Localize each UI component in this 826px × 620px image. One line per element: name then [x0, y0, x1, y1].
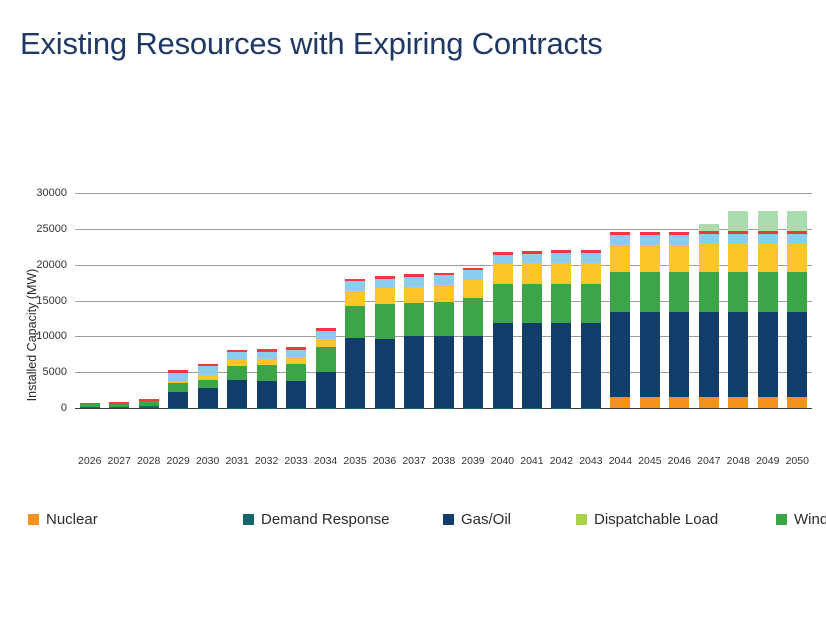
- stacked-bar[interactable]: [227, 350, 247, 408]
- bar-segment-solar[interactable]: [699, 244, 719, 272]
- bar-segment-wind[interactable]: [669, 272, 689, 312]
- bar-segment-gas-oil[interactable]: [404, 336, 424, 408]
- stacked-bar-chart: Installed Capacity (MW) 0500010000150002…: [0, 150, 826, 450]
- stacked-bar[interactable]: [581, 250, 601, 408]
- bar-column[interactable]: [399, 193, 428, 408]
- bar-segment-demand-response[interactable]: [109, 407, 129, 408]
- bar-segment-demand-response[interactable]: [139, 406, 159, 408]
- bar-segment-solar[interactable]: [286, 357, 306, 364]
- bar-segment-wind[interactable]: [699, 272, 719, 312]
- bar-segment-hydroelectric[interactable]: [227, 352, 247, 359]
- legend-item-label: Wind: [794, 511, 826, 528]
- bar-segment-solar[interactable]: [728, 244, 748, 272]
- legend-item-dispatchable-load[interactable]: Dispatchable Load: [576, 508, 776, 530]
- stacked-bar[interactable]: [139, 399, 159, 408]
- bar-segment-hydroelectric[interactable]: [522, 254, 542, 263]
- y-axis-tick-label: 10000: [7, 330, 67, 342]
- bar-segment-storage[interactable]: [758, 211, 778, 231]
- bar-segment-solar[interactable]: [375, 288, 395, 303]
- bar-segment-nuclear[interactable]: [787, 397, 807, 408]
- bar-segment-solar[interactable]: [404, 287, 424, 303]
- bar-column[interactable]: [547, 193, 576, 408]
- chart-legend: NuclearDemand ResponseGas/OilDispatchabl…: [28, 508, 818, 530]
- stacked-bar[interactable]: [80, 403, 100, 408]
- legend-item-label: Nuclear: [46, 511, 98, 528]
- bar-segment-wind[interactable]: [640, 272, 660, 312]
- bar-segment-nuclear[interactable]: [669, 397, 689, 408]
- bar-column[interactable]: [488, 193, 517, 408]
- bar-segment-solar[interactable]: [758, 244, 778, 272]
- bar-segment-solar[interactable]: [640, 245, 660, 272]
- bar-segment-solar[interactable]: [581, 263, 601, 284]
- bar-segment-hydroelectric[interactable]: [640, 235, 660, 245]
- bar-segment-gas-oil[interactable]: [758, 312, 778, 397]
- stacked-bar[interactable]: [404, 274, 424, 408]
- bar-segment-hydroelectric[interactable]: [581, 253, 601, 263]
- bar-segment-wind[interactable]: [610, 272, 630, 312]
- bar-segment-solar[interactable]: [434, 285, 454, 302]
- bar-segment-gas-oil[interactable]: [316, 372, 336, 408]
- stacked-bar[interactable]: [787, 211, 807, 408]
- y-axis-tick-label: 20000: [7, 259, 67, 271]
- bar-segment-solar[interactable]: [787, 244, 807, 272]
- bar-column[interactable]: [281, 193, 310, 408]
- bar-segment-wind[interactable]: [522, 284, 542, 323]
- bar-segment-wind[interactable]: [286, 364, 306, 381]
- legend-item-label: Demand Response: [261, 511, 389, 528]
- legend-swatch-icon: [28, 514, 39, 525]
- bar-segment-nuclear[interactable]: [640, 397, 660, 408]
- bar-segment-wind[interactable]: [434, 302, 454, 336]
- bar-segment-hydroelectric[interactable]: [551, 253, 571, 263]
- bar-segment-gas-oil[interactable]: [551, 323, 571, 408]
- bar-segment-wind[interactable]: [168, 383, 188, 393]
- bar-segment-solar[interactable]: [610, 245, 630, 272]
- bar-column[interactable]: [694, 193, 723, 408]
- bar-segment-solar[interactable]: [669, 245, 689, 272]
- stacked-bar[interactable]: [198, 364, 218, 408]
- bar-segment-demand-response[interactable]: [80, 407, 100, 408]
- y-axis-tick-label: 5000: [7, 366, 67, 378]
- bar-segment-hydroelectric[interactable]: [787, 234, 807, 244]
- bar-segment-wind[interactable]: [581, 284, 601, 323]
- bar-column[interactable]: [311, 193, 340, 408]
- bar-column[interactable]: [576, 193, 605, 408]
- stacked-bar[interactable]: [168, 370, 188, 408]
- bar-segment-hydroelectric[interactable]: [493, 255, 513, 264]
- bar-segment-wind[interactable]: [345, 306, 365, 338]
- bar-segment-solar[interactable]: [345, 291, 365, 306]
- legend-swatch-icon: [776, 514, 787, 525]
- stacked-bar[interactable]: [728, 211, 748, 408]
- bar-segment-solar[interactable]: [316, 339, 336, 347]
- bar-column[interactable]: [222, 193, 251, 408]
- stacked-bar[interactable]: [463, 268, 483, 408]
- bar-segment-storage[interactable]: [728, 211, 748, 231]
- bar-column[interactable]: [517, 193, 546, 408]
- bar-column[interactable]: [193, 193, 222, 408]
- bar-column[interactable]: [635, 193, 664, 408]
- bar-segment-wind[interactable]: [551, 284, 571, 323]
- bar-segment-gas-oil[interactable]: [375, 339, 395, 408]
- bar-column[interactable]: [606, 193, 635, 408]
- bar-segment-gas-oil[interactable]: [463, 336, 483, 408]
- legend-item-label: Gas/Oil: [461, 511, 511, 528]
- bar-segment-gas-oil[interactable]: [640, 312, 660, 397]
- bar-segment-gas-oil[interactable]: [493, 323, 513, 408]
- bar-segment-solar[interactable]: [522, 263, 542, 284]
- bar-segment-hydroelectric[interactable]: [758, 234, 778, 244]
- y-axis-tick-label: 0: [7, 402, 67, 414]
- bar-segment-hydroelectric[interactable]: [316, 331, 336, 339]
- x-axis-tick-label: 2050: [774, 455, 820, 467]
- stacked-bar[interactable]: [551, 250, 571, 408]
- bar-segment-gas-oil[interactable]: [581, 323, 601, 408]
- bar-segment-solar[interactable]: [551, 263, 571, 284]
- stacked-bar[interactable]: [522, 251, 542, 408]
- bar-segment-gas-oil[interactable]: [699, 312, 719, 397]
- bar-segment-wind[interactable]: [728, 272, 748, 312]
- bar-segment-hydroelectric[interactable]: [434, 275, 454, 284]
- bar-column[interactable]: [134, 193, 163, 408]
- bar-segment-wind[interactable]: [463, 298, 483, 336]
- bar-column[interactable]: [783, 193, 812, 408]
- bar-column[interactable]: [75, 193, 104, 408]
- bar-segment-wind[interactable]: [493, 284, 513, 323]
- bar-segment-hydroelectric[interactable]: [404, 277, 424, 286]
- bar-segment-hydroelectric[interactable]: [286, 350, 306, 357]
- legend-swatch-icon: [576, 514, 587, 525]
- stacked-bar[interactable]: [109, 402, 129, 408]
- y-axis-tick-label: 15000: [7, 295, 67, 307]
- stacked-bar[interactable]: [669, 232, 689, 408]
- bar-column[interactable]: [163, 193, 192, 408]
- bar-column[interactable]: [252, 193, 281, 408]
- bar-column[interactable]: [429, 193, 458, 408]
- legend-item-demand-response[interactable]: Demand Response: [243, 508, 443, 530]
- legend-item-nuclear[interactable]: Nuclear: [28, 508, 243, 530]
- bar-segment-hydroelectric[interactable]: [669, 235, 689, 245]
- bar-column[interactable]: [665, 193, 694, 408]
- stacked-bar[interactable]: [434, 273, 454, 408]
- legend-item-label: Dispatchable Load: [594, 511, 718, 528]
- stacked-bar[interactable]: [257, 349, 277, 408]
- bar-column[interactable]: [458, 193, 487, 408]
- bar-segment-hydroelectric[interactable]: [198, 366, 218, 374]
- stacked-bar[interactable]: [316, 328, 336, 408]
- page-title: Existing Resources with Expiring Contrac…: [20, 26, 603, 62]
- bar-column[interactable]: [753, 193, 782, 408]
- bar-group: [75, 193, 812, 408]
- bar-segment-wind[interactable]: [758, 272, 778, 312]
- stacked-bar[interactable]: [375, 276, 395, 408]
- bar-segment-gas-oil[interactable]: [787, 312, 807, 397]
- plot-area: 050001000015000200002500030000 202620272…: [75, 193, 812, 408]
- bar-column[interactable]: [370, 193, 399, 408]
- bar-segment-hydroelectric[interactable]: [375, 279, 395, 288]
- stacked-bar[interactable]: [640, 232, 660, 408]
- bar-segment-gas-oil[interactable]: [610, 312, 630, 397]
- bar-segment-gas-oil[interactable]: [198, 388, 218, 407]
- bar-segment-storage[interactable]: [699, 224, 719, 231]
- bar-segment-wind[interactable]: [404, 303, 424, 336]
- bar-segment-wind[interactable]: [257, 365, 277, 380]
- bar-segment-wind[interactable]: [787, 272, 807, 312]
- bar-segment-gas-oil[interactable]: [434, 336, 454, 408]
- bar-segment-nuclear[interactable]: [610, 397, 630, 408]
- bar-column[interactable]: [724, 193, 753, 408]
- bar-segment-wind[interactable]: [375, 304, 395, 339]
- bar-segment-wind[interactable]: [227, 366, 247, 380]
- bar-segment-gas-oil[interactable]: [728, 312, 748, 397]
- stacked-bar[interactable]: [610, 232, 630, 408]
- bar-segment-hydroelectric[interactable]: [610, 235, 630, 245]
- bar-segment-gas-oil[interactable]: [669, 312, 689, 397]
- bar-segment-nuclear[interactable]: [728, 397, 748, 408]
- bar-segment-gas-oil[interactable]: [227, 380, 247, 407]
- bar-segment-gas-oil[interactable]: [257, 381, 277, 408]
- bar-column[interactable]: [340, 193, 369, 408]
- stacked-bar[interactable]: [699, 224, 719, 408]
- bar-segment-wind[interactable]: [198, 380, 218, 388]
- bar-segment-gas-oil[interactable]: [286, 381, 306, 408]
- bar-segment-gas-oil[interactable]: [168, 392, 188, 407]
- bar-segment-solar[interactable]: [493, 264, 513, 284]
- stacked-bar[interactable]: [345, 279, 365, 408]
- legend-item-wind[interactable]: Wind: [776, 508, 826, 530]
- bar-segment-gas-oil[interactable]: [345, 338, 365, 408]
- bar-segment-storage[interactable]: [787, 211, 807, 231]
- bar-segment-nuclear[interactable]: [758, 397, 778, 408]
- bar-segment-hydroelectric[interactable]: [728, 234, 748, 244]
- bar-segment-nuclear[interactable]: [699, 397, 719, 408]
- bar-segment-hydroelectric[interactable]: [699, 234, 719, 244]
- y-axis-tick-label: 30000: [7, 187, 67, 199]
- bar-segment-solar[interactable]: [463, 280, 483, 298]
- bar-segment-wind[interactable]: [316, 347, 336, 372]
- y-axis-tick-label: 25000: [7, 223, 67, 235]
- stacked-bar[interactable]: [758, 211, 778, 408]
- legend-swatch-icon: [443, 514, 454, 525]
- bar-segment-hydroelectric[interactable]: [463, 270, 483, 279]
- bar-segment-hydroelectric[interactable]: [345, 281, 365, 290]
- bar-segment-hydroelectric[interactable]: [257, 352, 277, 359]
- legend-item-gas-oil[interactable]: Gas/Oil: [443, 508, 576, 530]
- bar-column[interactable]: [104, 193, 133, 408]
- bar-segment-hydroelectric[interactable]: [168, 373, 188, 381]
- stacked-bar[interactable]: [493, 252, 513, 408]
- legend-swatch-icon: [243, 514, 254, 525]
- stacked-bar[interactable]: [286, 347, 306, 408]
- bar-segment-gas-oil[interactable]: [522, 323, 542, 408]
